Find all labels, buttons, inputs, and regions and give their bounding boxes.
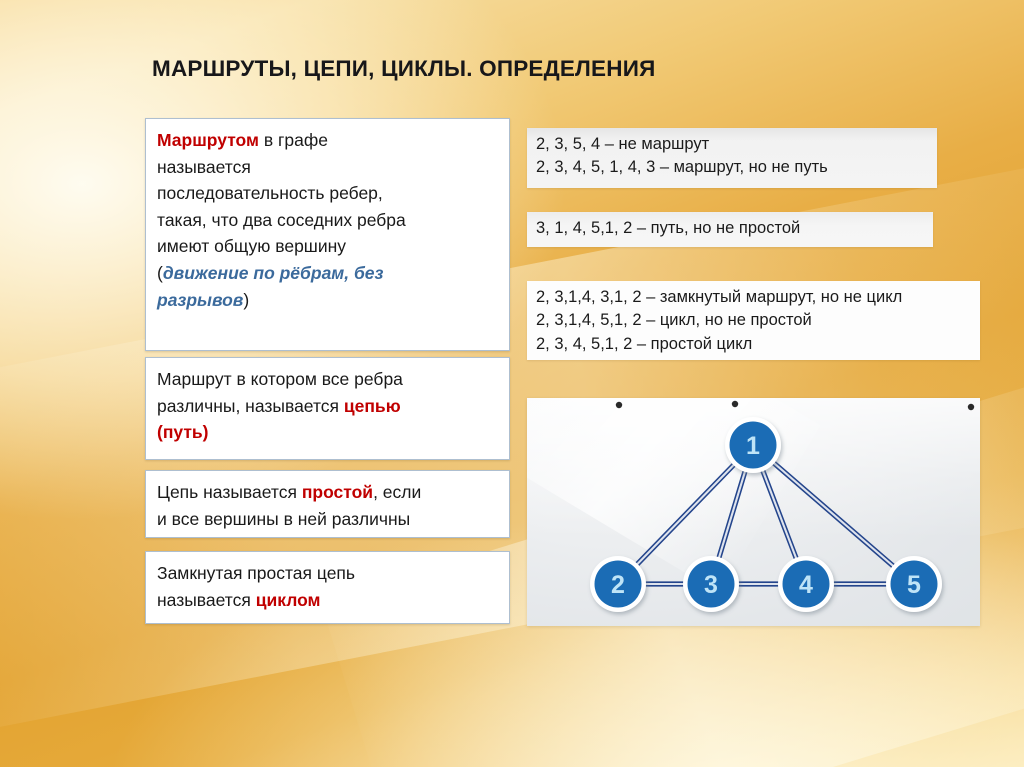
definition-text-segment: простой <box>302 482 373 502</box>
definition-line: (движение по рёбрам, без <box>157 260 497 287</box>
definition-text-segment: имеют общую вершину <box>157 236 346 256</box>
definition-box-cycle: Замкнутая простая цепьназывается циклом <box>145 551 510 624</box>
figure-pin-icon <box>616 402 622 408</box>
graph-node-2: 2 <box>590 556 646 612</box>
graph-node-4: 4 <box>778 556 834 612</box>
page-title: МАРШРУТЫ, ЦЕПИ, ЦИКЛЫ. ОПРЕДЕЛЕНИЯ <box>152 56 655 82</box>
figure-pin-icon <box>968 404 974 410</box>
definition-text-segment: и все вершины в ней различны <box>157 509 410 529</box>
definition-box-route: Маршрутом в графеназываетсяпоследователь… <box>145 118 510 351</box>
definition-text-segment: , если <box>373 482 421 502</box>
graph-svg: 12345 <box>527 398 980 626</box>
graph-node-1: 1 <box>725 417 781 473</box>
example-line: 2, 3, 4, 5,1, 2 – простой цикл <box>536 333 971 356</box>
example-strip-cycles: 2, 3,1,4, 3,1, 2 – замкнутый маршрут, но… <box>527 281 980 360</box>
definition-text-segment: Маршрутом <box>157 130 259 150</box>
definition-line: (путь) <box>157 419 497 446</box>
definition-line: называется <box>157 154 497 181</box>
graph-node-label: 1 <box>746 432 760 460</box>
definition-text-segment: ) <box>243 290 249 310</box>
graph-node-3: 3 <box>683 556 739 612</box>
definition-text-segment: движение по рёбрам, без <box>163 263 384 283</box>
graph-node-label: 2 <box>611 571 625 599</box>
figure-pin-icon <box>732 401 738 407</box>
definition-text-segment: цепью <box>344 396 401 416</box>
graph-node-label: 3 <box>704 571 718 599</box>
definition-line: Замкнутая простая цепь <box>157 560 497 587</box>
definition-text-segment: Цепь называется <box>157 482 302 502</box>
definition-line: называется циклом <box>157 587 497 614</box>
definition-text-segment: (путь) <box>157 422 209 442</box>
definition-box-chain: Маршрут в котором все ребраразличны, наз… <box>145 357 510 460</box>
definition-text-segment: разрывов <box>157 290 243 310</box>
definition-text-segment: различны, называется <box>157 396 344 416</box>
definition-line: последовательность ребер, <box>157 180 497 207</box>
example-line: 2, 3, 5, 4 – не маршрут <box>536 133 928 156</box>
example-strip-path: 3, 1, 4, 5,1, 2 – путь, но не простой <box>527 212 933 247</box>
definition-text-segment: в графе <box>259 130 328 150</box>
graph-node-label: 5 <box>907 571 921 599</box>
example-line: 2, 3,1,4, 5,1, 2 – цикл, но не простой <box>536 309 971 332</box>
graph-node-label: 4 <box>799 571 813 599</box>
definition-box-simple-chain: Цепь называется простой, еслии все верши… <box>145 470 510 538</box>
definition-text-segment: циклом <box>256 590 321 610</box>
definition-text-segment: называется <box>157 157 251 177</box>
slide-canvas: МАРШРУТЫ, ЦЕПИ, ЦИКЛЫ. ОПРЕДЕЛЕНИЯ Маршр… <box>0 0 1024 767</box>
example-line: 2, 3, 4, 5, 1, 4, 3 – маршрут, но не пут… <box>536 156 928 179</box>
example-line: 3, 1, 4, 5,1, 2 – путь, но не простой <box>536 217 924 240</box>
definition-text-segment: такая, что два соседних ребра <box>157 210 406 230</box>
definition-text-segment: последовательность ребер, <box>157 183 383 203</box>
definition-text-segment: называется <box>157 590 256 610</box>
definition-line: и все вершины в ней различны <box>157 506 497 533</box>
graph-figure: 12345 <box>527 398 980 626</box>
definition-text-segment: Замкнутая простая цепь <box>157 563 355 583</box>
definition-line: разрывов) <box>157 287 497 314</box>
example-line: 2, 3,1,4, 3,1, 2 – замкнутый маршрут, но… <box>536 286 971 309</box>
definition-line: различны, называется цепью <box>157 393 497 420</box>
graph-node-5: 5 <box>886 556 942 612</box>
definition-line: Цепь называется простой, если <box>157 479 497 506</box>
example-strip-routes: 2, 3, 5, 4 – не маршрут2, 3, 4, 5, 1, 4,… <box>527 128 937 188</box>
definition-text-segment: Маршрут в котором все ребра <box>157 369 403 389</box>
definition-line: имеют общую вершину <box>157 233 497 260</box>
definition-line: Маршрутом в графе <box>157 127 497 154</box>
definition-line: Маршрут в котором все ребра <box>157 366 497 393</box>
definition-line: такая, что два соседних ребра <box>157 207 497 234</box>
